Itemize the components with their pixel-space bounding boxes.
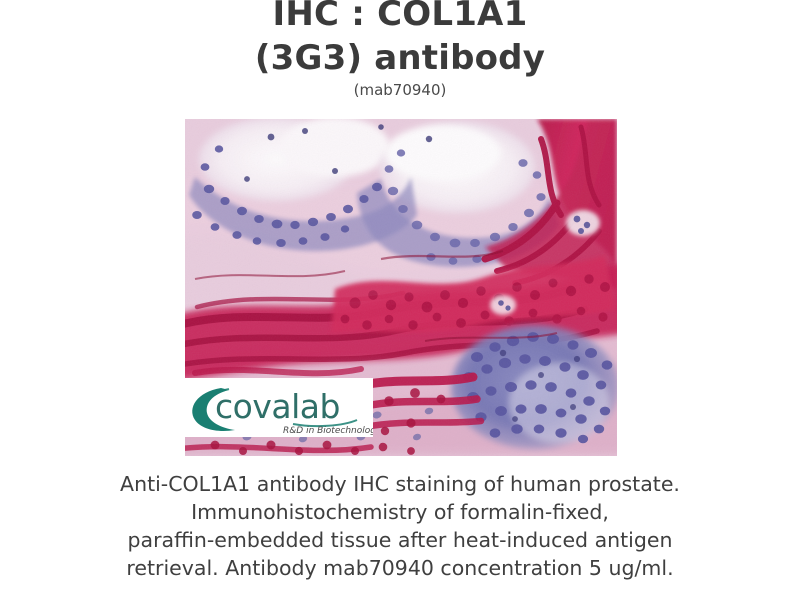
caption-line-3: paraffin-embedded tissue after heat-indu… (60, 526, 740, 554)
caption-line-4: retrieval. Antibody mab70940 concentrati… (60, 554, 740, 582)
figure-title-block: IHC : COL1A1 (3G3) antibody (mab70940) (0, 0, 800, 99)
page-title-line-2: (3G3) antibody (0, 36, 800, 80)
logo-tagline: R&D in Biotechnology (283, 426, 373, 436)
covalab-logo-svg: covalab R&D in Biotechnology (185, 378, 373, 437)
figure-page: IHC : COL1A1 (3G3) antibody (mab70940) (0, 0, 800, 600)
figure-caption: Anti-COL1A1 antibody IHC staining of hum… (60, 470, 740, 582)
logo-wordmark: covalab (215, 387, 340, 426)
covalab-logo: covalab R&D in Biotechnology (185, 378, 373, 437)
caption-line-1: Anti-COL1A1 antibody IHC staining of hum… (60, 470, 740, 498)
caption-line-2: Immunohistochemistry of formalin-fixed, (60, 498, 740, 526)
catalog-number: (mab70940) (0, 81, 800, 99)
page-title-line-1: IHC : COL1A1 (0, 0, 800, 36)
